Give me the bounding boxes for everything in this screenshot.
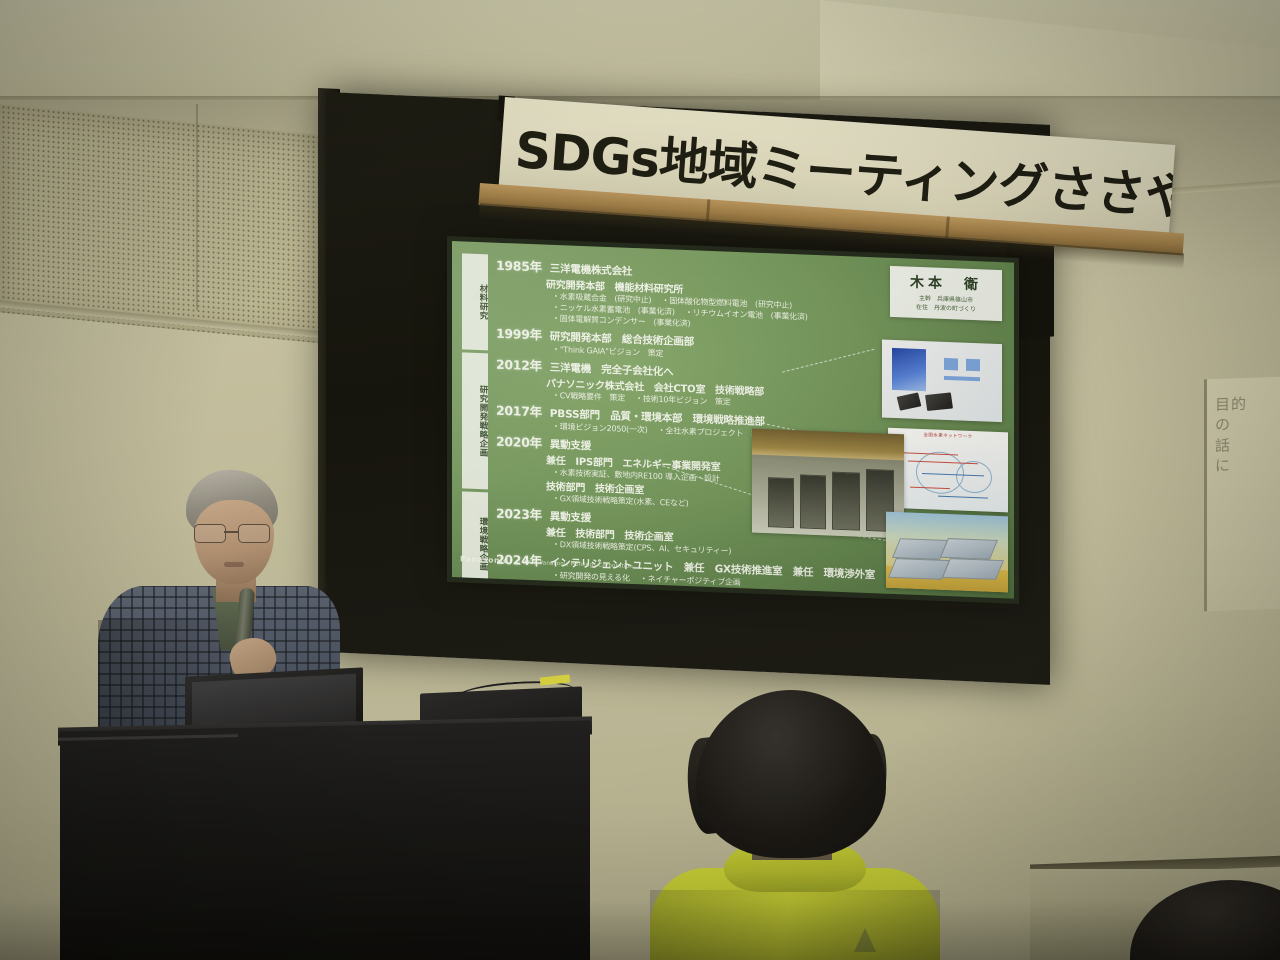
presenter-mouth — [224, 562, 244, 567]
slide-category-rail: 材料研究 研究開発戦略企画 環境戦略企画 — [462, 253, 488, 596]
timeline-year: 2012年 — [496, 354, 542, 375]
projected-slide: 材料研究 研究開発戦略企画 環境戦略企画 1985年 三洋電機株式会社 研究開発… — [452, 241, 1014, 599]
whiteboard-handwriting: 目的 の 話 に — [1215, 393, 1280, 476]
thumbnail-hydrogen-network-map: 全国水素ネットワーク — [888, 428, 1008, 513]
timeline-year: 1999年 — [496, 323, 542, 344]
category-materials-research: 材料研究 — [462, 253, 488, 350]
presenter-name-card: 木本 衛 主幹 兵庫県篠山市 在住 丹波の町づくり — [890, 266, 1002, 322]
timeline-year: 2020年 — [496, 431, 542, 452]
timeline-year: 1985年 — [496, 255, 542, 276]
category-rd-strategy-planning: 研究開発戦略企画 — [462, 352, 488, 489]
audience-member-front — [640, 690, 940, 960]
panasonic-logo: Panasonic — [460, 554, 508, 565]
presenter-name-details: 主幹 兵庫県篠山市 在住 丹波の町づくり — [894, 294, 998, 315]
whiteboard: 目的 の 話 に — [1204, 377, 1280, 612]
acoustic-panel-seam — [196, 104, 198, 310]
podium — [60, 720, 590, 960]
thumbnail-hydrogen-facility — [752, 429, 904, 539]
timeline-title: 異動支援 — [550, 509, 591, 526]
timeline-title: 異動支援 — [550, 437, 591, 454]
timeline-year: 2017年 — [496, 400, 542, 421]
audience-jacket-shading — [650, 890, 940, 960]
lecture-hall-photo: 目的 の 話 に SDGs地域ミーティングささやま2025 材料研究 研究開発戦… — [0, 0, 1280, 960]
glasses-icon — [194, 524, 272, 541]
timeline-year: 2023年 — [496, 503, 542, 524]
audience-hair — [696, 690, 886, 858]
thumbnail-electronic-components — [882, 340, 1002, 423]
slide-timeline: 1985年 三洋電機株式会社 研究開発本部 機能材料研究所 ・水素吸蔵合金 (研… — [496, 255, 892, 595]
thumbnail-solar-plant — [886, 512, 1008, 593]
presenter-name: 木本 衛 — [894, 271, 998, 295]
